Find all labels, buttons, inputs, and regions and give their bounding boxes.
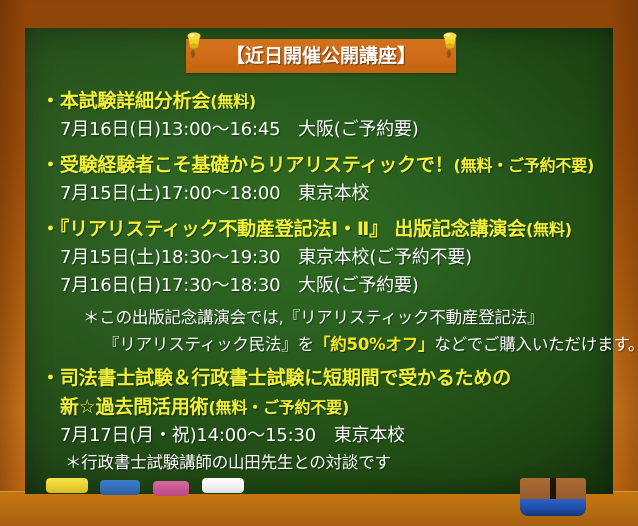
- event-3-note-line-2: 『リアリスティック民法』を「約50%オフ」などでご購入いただけます。: [103, 331, 638, 355]
- discount-suffix: などでご購入いただけます。: [434, 335, 638, 354]
- event-3-fee: (無料): [526, 220, 572, 239]
- event-4-bullet: ・: [41, 367, 60, 389]
- blackboard-eraser-icon: [520, 478, 586, 516]
- event-4-detail: 7月17日(月・祝)14:00〜15:30 東京本校: [60, 421, 405, 447]
- discount-prefix: 『リアリスティック民法』を: [103, 335, 314, 354]
- event-1-detail: 7月16日(日)13:00〜16:45 大阪(ご予約要): [60, 115, 419, 141]
- event-2-bullet: ・: [41, 154, 60, 176]
- event-3-heading: ・『リアリスティック不動産登記法Ⅰ・Ⅱ』 出版記念講演会(無料): [41, 214, 572, 241]
- event-3-bullet: ・: [41, 218, 60, 240]
- event-3-detail-2: 7月16日(日)17:30〜18:30 大阪(ご予約要): [60, 271, 419, 297]
- event-1-title: 本試験詳細分析会: [60, 90, 210, 112]
- chalk-blue: [100, 480, 140, 495]
- event-4-fee: (無料・ご予約不要): [208, 398, 349, 417]
- discount-highlight: 約50%オフ: [330, 335, 418, 354]
- chalkboard-surface: 【近日開催公開講座】 ・本試験詳細分析会(無料: [25, 28, 613, 494]
- event-4-title-line2: 新☆過去問活用術: [60, 396, 208, 418]
- event-1-bullet: ・: [41, 90, 60, 112]
- chalk-pink: [153, 481, 189, 496]
- chalkboard-announcement-image: 【近日開催公開講座】 ・本試験詳細分析会(無料: [0, 0, 638, 526]
- chalk-white: [202, 478, 244, 493]
- chalk-yellow: [46, 478, 88, 493]
- event-4-heading-line-1: ・司法書士試験＆行政書士試験に短期間で受かるための: [41, 363, 511, 390]
- event-3-title: 『リアリスティック不動産登記法Ⅰ・Ⅱ』 出版記念講演会: [60, 218, 526, 240]
- event-3-detail-1: 7月15日(土)18:30〜19:30 東京本校(ご予約不要): [60, 243, 472, 269]
- announcement-text-block: ・本試験詳細分析会(無料) 7月16日(日)13:00〜16:45 大阪(ご予約…: [25, 28, 613, 494]
- event-2-heading: ・受験経験者こそ基礎からリアリスティックで！(無料・ご予約不要): [41, 150, 594, 177]
- discount-open-quote: 「: [314, 335, 330, 354]
- event-2-fee: (無料・ご予約不要): [453, 156, 594, 175]
- eraser-top-right: [556, 478, 586, 500]
- discount-close-quote: 」: [418, 335, 434, 354]
- eraser-top-left: [520, 478, 550, 500]
- event-4-heading-line-2: 新☆過去問活用術(無料・ご予約不要): [60, 392, 349, 419]
- event-4-note: ＊行政書士試験講師の山田先生との対談です: [65, 449, 391, 473]
- event-1-fee: (無料): [210, 92, 256, 111]
- event-3-note-line-1: ＊この出版記念講演会では,『リアリスティック不動産登記法』: [83, 304, 543, 328]
- event-2-title: 受験経験者こそ基礎からリアリスティックで！: [60, 154, 454, 176]
- eraser-felt: [520, 499, 586, 516]
- event-2-detail: 7月15日(土)17:00〜18:00 東京本校: [60, 179, 369, 205]
- event-4-title: 司法書士試験＆行政書士試験に短期間で受かるための: [60, 367, 511, 389]
- event-1-heading: ・本試験詳細分析会(無料): [41, 86, 256, 113]
